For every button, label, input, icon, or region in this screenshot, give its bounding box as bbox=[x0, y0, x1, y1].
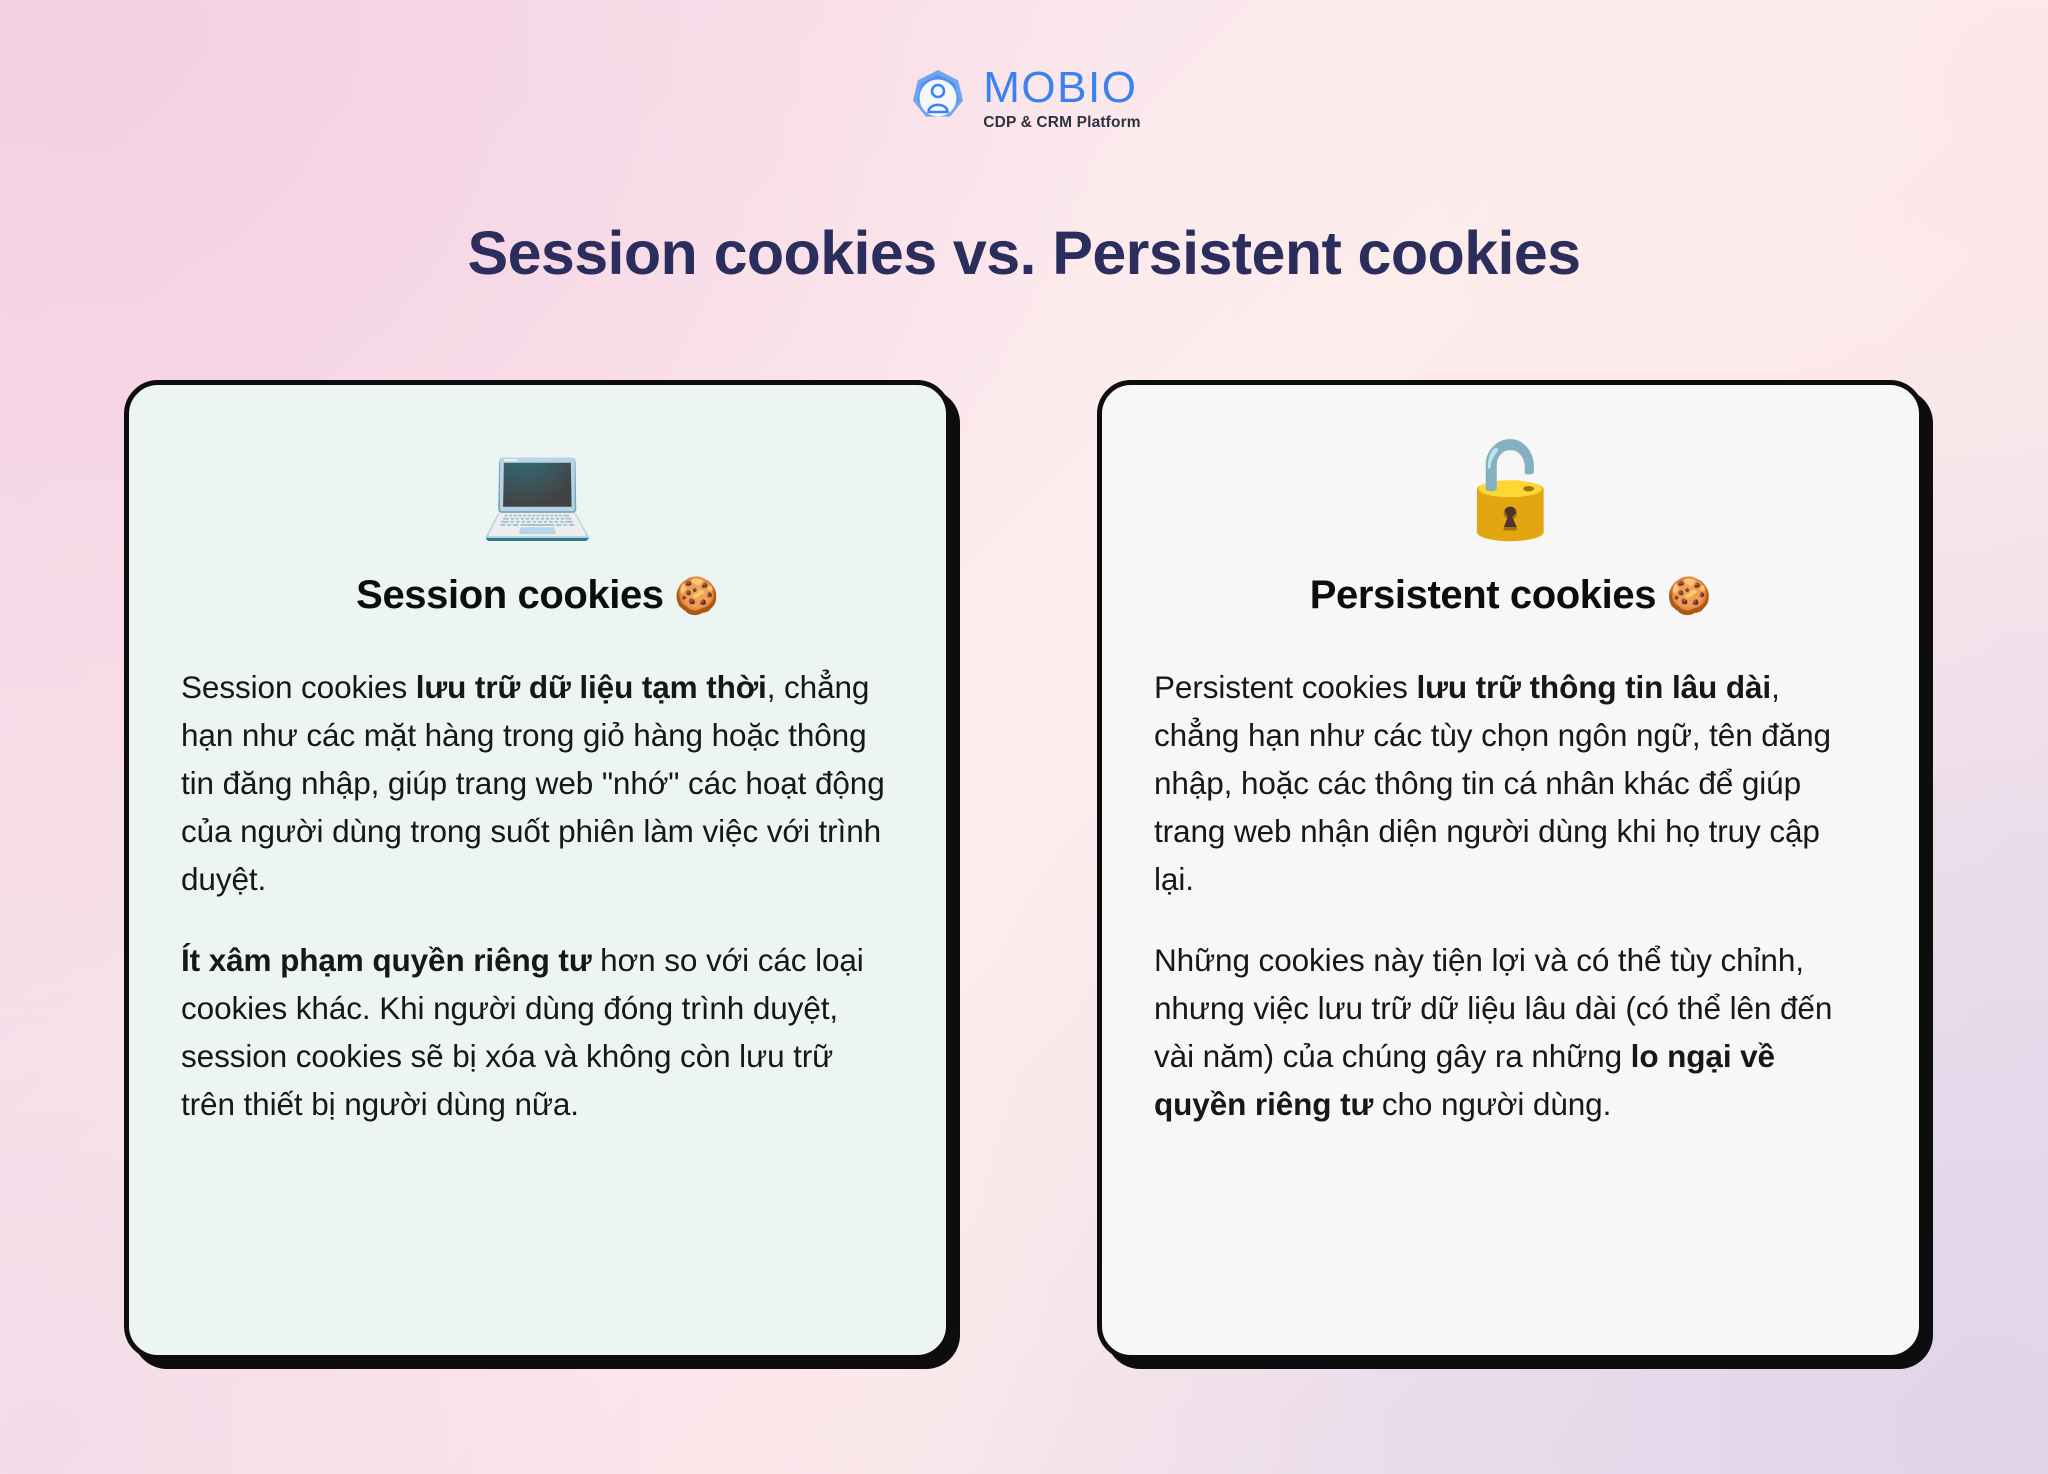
brand-wordmark: MOBIO CDP & CRM Platform bbox=[983, 66, 1140, 131]
cookie-icon: 🍪 bbox=[674, 575, 718, 616]
paragraph: Những cookies này tiện lợi và có thể tùy… bbox=[1154, 937, 1867, 1129]
paragraph: Persistent cookies lưu trữ thông tin lâu… bbox=[1154, 664, 1867, 903]
body-text: Session cookies bbox=[181, 669, 416, 705]
card-heading-session: Session cookies 🍪 bbox=[356, 573, 719, 618]
card-persistent-cookies: 🔓 Persistent cookies 🍪 Persistent cookie… bbox=[1097, 380, 1924, 1360]
laptop-computer-icon: 💻 bbox=[480, 431, 595, 551]
body-text: Persistent cookies bbox=[1154, 669, 1416, 705]
card-heading-persistent-text: Persistent cookies bbox=[1310, 573, 1656, 617]
brand-logo: MOBIO CDP & CRM Platform bbox=[0, 66, 2048, 131]
body-text: cho người dùng. bbox=[1373, 1086, 1611, 1122]
brand-name: MOBIO bbox=[983, 66, 1137, 110]
emphasis-text: lưu trữ thông tin lâu dài bbox=[1416, 669, 1771, 705]
cookie-icon: 🍪 bbox=[1667, 575, 1711, 616]
card-heading-session-text: Session cookies bbox=[356, 573, 663, 617]
card-heading-persistent: Persistent cookies 🍪 bbox=[1310, 573, 1711, 618]
emphasis-text: lưu trữ dữ liệu tạm thời bbox=[416, 669, 767, 705]
mobio-hexagon-person-icon bbox=[907, 67, 969, 129]
paragraph: Session cookies lưu trữ dữ liệu tạm thời… bbox=[181, 664, 894, 903]
open-padlock-icon: 🔓 bbox=[1453, 431, 1568, 551]
card-session-cookies: 💻 Session cookies 🍪 Session cookies lưu … bbox=[124, 380, 951, 1360]
card-body-session: Session cookies lưu trữ dữ liệu tạm thời… bbox=[181, 664, 894, 1129]
card-body-persistent: Persistent cookies lưu trữ thông tin lâu… bbox=[1154, 664, 1867, 1129]
comparison-cards: 💻 Session cookies 🍪 Session cookies lưu … bbox=[124, 380, 1924, 1360]
brand-tagline: CDP & CRM Platform bbox=[983, 115, 1140, 131]
emphasis-text: Ít xâm phạm quyền riêng tư bbox=[181, 942, 592, 978]
page-title: Session cookies vs. Persistent cookies bbox=[0, 218, 2048, 288]
paragraph: Ít xâm phạm quyền riêng tư hơn so với cá… bbox=[181, 937, 894, 1129]
